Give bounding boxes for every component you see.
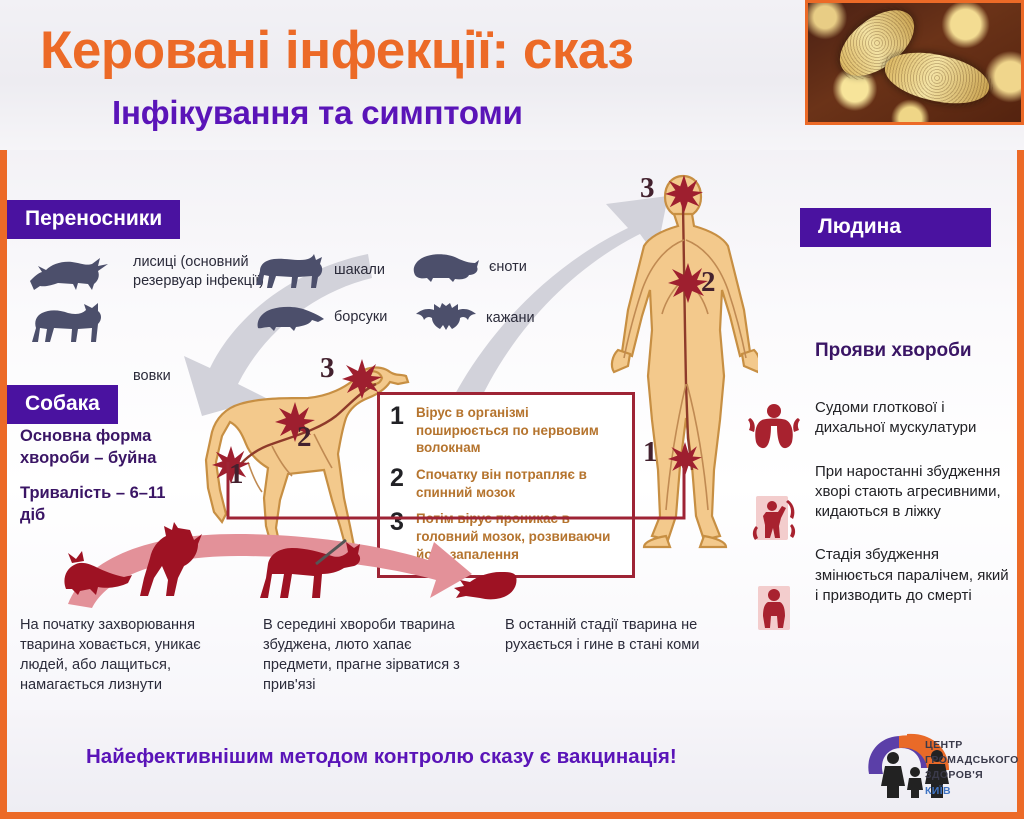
step-item: 1 Вірус в організмі поширюється по нерво… xyxy=(390,404,622,457)
dog-badge: Собака xyxy=(7,385,118,424)
logo-text: ЦЕНТР ГРОМАДСЬКОГО ЗДОРОВ'Я КИЇВ xyxy=(925,738,1019,799)
carriers-item-label: єноти xyxy=(489,258,527,277)
human-marker-label-2: 2 xyxy=(701,266,716,299)
page-subtitle: Інфікування та симптоми xyxy=(112,94,523,132)
logo-line-1: ЦЕНТР xyxy=(925,738,1019,753)
bat-icon xyxy=(414,302,478,334)
logo-city: КИЇВ xyxy=(925,784,1019,799)
human-marker-label-3: 3 xyxy=(640,172,655,205)
carriers-item-label: борсуки xyxy=(334,308,387,327)
carriers-item-label: вовки xyxy=(133,368,171,384)
dog-marker-label-2: 2 xyxy=(297,421,312,454)
carriers-item-label: шакали xyxy=(334,261,385,280)
symptoms-list: Судоми глоткової і дихальної мускулатури… xyxy=(815,398,1015,629)
jackal-icon xyxy=(254,251,326,289)
infographic-poster: Керовані інфекції: сказ Інфікування та с… xyxy=(0,0,1024,819)
footer-slogan: Найефективнішим методом контролю сказу є… xyxy=(86,745,677,769)
poster-header: Керовані інфекції: сказ Інфікування та с… xyxy=(0,0,1024,150)
list-item: єноти xyxy=(409,251,527,283)
logo-line-3: ЗДОРОВ'Я xyxy=(925,768,1019,783)
rabies-virus-photo xyxy=(805,0,1024,125)
human-badge: Людина xyxy=(800,208,991,247)
badger-icon xyxy=(254,302,326,332)
virion-particle xyxy=(880,44,993,111)
dog-hiding-icon xyxy=(62,545,134,597)
lungs-spasm-icon xyxy=(748,402,800,454)
logo-line-2: ГРОМАДСЬКОГО xyxy=(925,753,1019,768)
fox-icon xyxy=(28,253,112,291)
symptom-item: Судоми глоткової і дихальної мускулатури xyxy=(815,398,1015,439)
symptom-item: При наростанні збудження хворі стають аг… xyxy=(815,462,1015,523)
bite-connector-bracket xyxy=(226,462,686,524)
symptom-item: Стадія збудження змінюється паралічем, я… xyxy=(815,545,1015,606)
dog-biting-icon xyxy=(258,530,364,600)
list-item: лисиці (основний резервуар інфекції) xyxy=(28,253,112,291)
human-marker-star-3 xyxy=(665,175,703,213)
bite-marker-star-3 xyxy=(342,359,382,399)
step-number: 1 xyxy=(390,404,407,457)
agitated-person-icon xyxy=(748,492,800,544)
carriers-animal-list: лисиці (основний резервуар інфекції) вов… xyxy=(14,250,554,345)
stage-caption-early: На початку захворювання тварина ховаєтьс… xyxy=(20,615,245,696)
list-item: шакали xyxy=(254,251,385,289)
carriers-item-label: лисиці (основний резервуар інфекції) xyxy=(133,253,273,291)
list-item: вовки xyxy=(28,302,112,344)
page-title: Керовані інфекції: сказ xyxy=(40,20,633,81)
list-item: кажани xyxy=(414,302,535,334)
symptoms-title: Прояви хвороби xyxy=(815,340,972,362)
dog-jumping-icon xyxy=(138,522,204,600)
step-text: Вірус в організмі поширюється по нервови… xyxy=(416,404,622,457)
stage-caption-middle: В середині хвороби тварина збуджена, лют… xyxy=(263,615,478,696)
carriers-badge: Переносники xyxy=(7,200,180,239)
wolf-icon xyxy=(28,302,112,344)
stage-caption-final: В останній стадії тварина не рухається і… xyxy=(505,615,705,655)
raccoon-icon xyxy=(409,251,481,283)
dog-marker-label-3: 3 xyxy=(320,352,335,385)
carriers-item-label: кажани xyxy=(486,309,535,328)
list-item: борсуки xyxy=(254,302,387,332)
dog-dead-icon xyxy=(452,568,518,602)
paralysis-icon xyxy=(748,582,800,634)
